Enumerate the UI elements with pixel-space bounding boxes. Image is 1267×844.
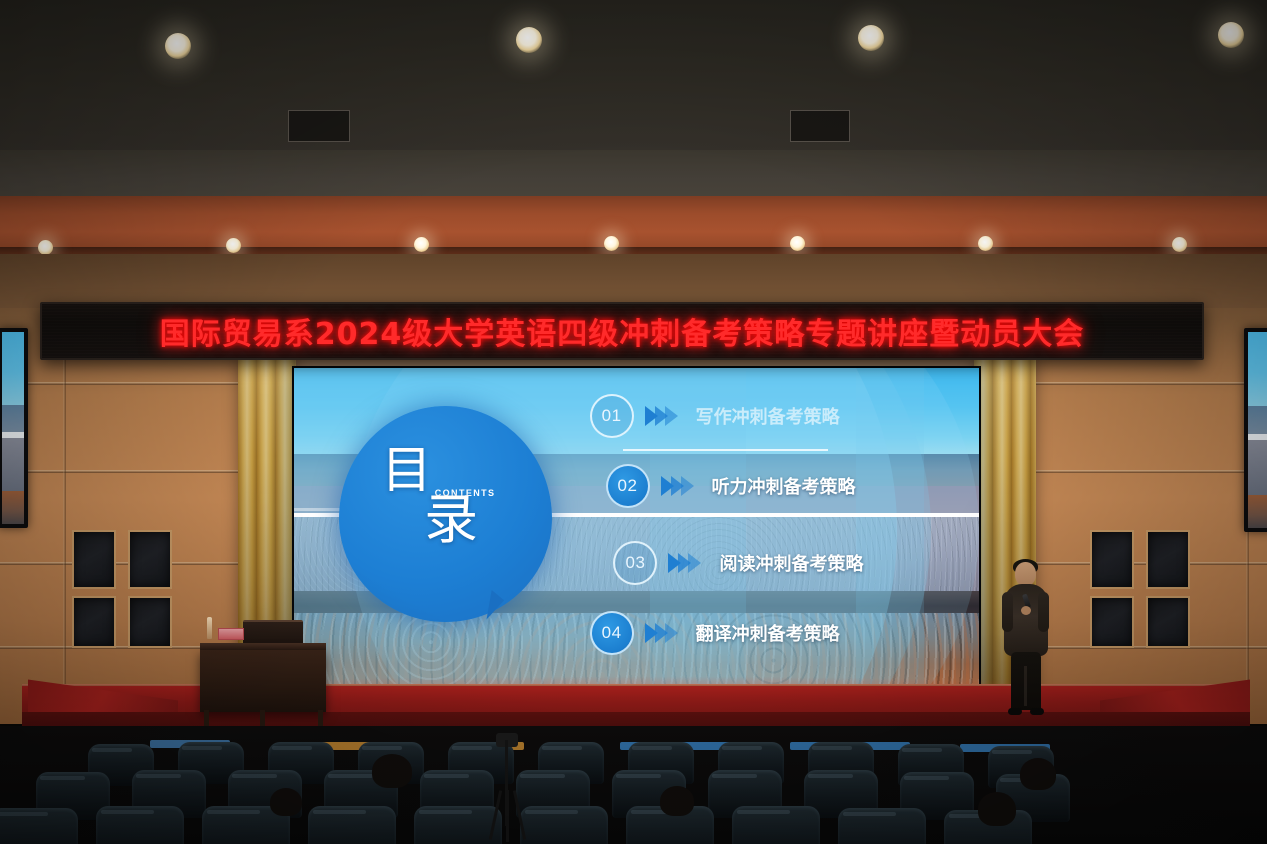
chevron-right-icon bbox=[688, 553, 701, 573]
chevron-right-icon bbox=[665, 623, 678, 643]
ceiling-beam bbox=[0, 196, 1267, 254]
beam-downlight bbox=[226, 238, 241, 253]
main-led-screen[interactable]: 目 CONTENTS 录 01 写作冲刺备考策略 02 bbox=[292, 366, 981, 688]
presenter-hand bbox=[1021, 606, 1031, 615]
side-display-sky bbox=[1248, 332, 1267, 406]
agenda-item-03[interactable]: 03 阅读冲刺备考策略 bbox=[613, 540, 863, 586]
wall-window bbox=[1146, 530, 1190, 589]
beam-downlight bbox=[1172, 237, 1187, 252]
wall-panel-upper bbox=[0, 254, 1267, 308]
audience-member bbox=[1020, 758, 1056, 790]
lecture-hall-photo: 目 CONTENTS 录 01 写作冲刺备考策略 02 bbox=[0, 0, 1267, 844]
agenda-number-badge: 01 bbox=[590, 394, 634, 438]
wall-window bbox=[128, 596, 172, 648]
side-display-sky bbox=[2, 332, 24, 405]
side-display-rock bbox=[1248, 495, 1267, 528]
side-display-sand bbox=[1248, 440, 1267, 495]
agenda-item-02[interactable]: 02 听力冲刺备考策略 bbox=[606, 463, 856, 509]
ceiling-vent-right bbox=[790, 110, 850, 142]
agenda-item-04[interactable]: 04 翻译冲刺备考策略 bbox=[590, 610, 840, 656]
beam-downlight bbox=[38, 240, 53, 255]
presenter-leg-gap bbox=[1024, 666, 1027, 706]
agenda-item-label: 听力冲刺备考策略 bbox=[712, 473, 856, 499]
audience-member bbox=[978, 792, 1016, 826]
audience-seating bbox=[0, 726, 1267, 844]
beam-downlight bbox=[604, 236, 619, 251]
agenda-number-badge: 04 bbox=[590, 611, 634, 655]
presider-table bbox=[200, 650, 326, 712]
audience-seat bbox=[308, 806, 396, 844]
beam-downlight bbox=[414, 237, 429, 252]
presentation-slide: 目 CONTENTS 录 01 写作冲刺备考策略 02 bbox=[294, 368, 979, 686]
audience-seat bbox=[838, 808, 926, 844]
chevron-arrows-icon bbox=[671, 553, 701, 573]
led-banner-text: 国际贸易系2024级大学英语四级冲刺备考策略专题讲座暨动员大会 bbox=[160, 309, 1085, 353]
contents-title-char-2: 录 bbox=[424, 493, 478, 547]
presenter bbox=[1002, 562, 1050, 722]
presenter-arm-right bbox=[1038, 592, 1049, 632]
led-banner: 国际贸易系2024级大学英语四级冲刺备考策略专题讲座暨动员大会 bbox=[40, 302, 1204, 360]
beam-downlight bbox=[790, 236, 805, 251]
presenter-shoe-left bbox=[1008, 708, 1022, 715]
audience-seat bbox=[96, 806, 184, 844]
name-card bbox=[218, 628, 244, 640]
wall-window bbox=[72, 530, 116, 589]
agenda-item-label: 翻译冲刺备考策略 bbox=[696, 620, 840, 646]
side-display-rock bbox=[2, 491, 24, 524]
ceiling-spotlight bbox=[858, 25, 884, 51]
audience-member bbox=[660, 786, 694, 816]
contents-bubble-text: 目 CONTENTS 录 bbox=[339, 406, 551, 622]
tripod-leg bbox=[506, 790, 509, 842]
water-bottle bbox=[207, 617, 212, 639]
ceiling-vent-left bbox=[288, 110, 350, 142]
beam-downlight bbox=[978, 236, 993, 251]
audience-seat bbox=[0, 808, 78, 844]
audience-seat bbox=[520, 806, 608, 844]
ceiling-spotlight bbox=[516, 27, 542, 53]
side-display-sand bbox=[2, 438, 24, 492]
wall-window bbox=[1146, 596, 1190, 648]
right-side-display bbox=[1244, 328, 1267, 532]
left-side-display bbox=[0, 328, 28, 528]
chevron-arrows-icon bbox=[648, 406, 678, 426]
chevron-right-icon bbox=[665, 406, 678, 426]
chevron-right-icon bbox=[681, 476, 694, 496]
wall-window bbox=[1090, 596, 1134, 648]
audience-seat bbox=[732, 806, 820, 844]
side-display-sea bbox=[1248, 406, 1267, 433]
audience-member bbox=[270, 788, 302, 816]
agenda-item-01[interactable]: 01 写作冲刺备考策略 bbox=[590, 393, 840, 439]
side-display-sea bbox=[2, 405, 24, 432]
agenda-item-label: 写作冲刺备考策略 bbox=[696, 403, 840, 429]
chevron-arrows-icon bbox=[664, 476, 694, 496]
agenda-item-label: 阅读冲刺备考策略 bbox=[719, 550, 863, 576]
ceiling-spotlight bbox=[1218, 22, 1244, 48]
agenda-list: 01 写作冲刺备考策略 02 听力冲刺备考策略 bbox=[582, 368, 979, 686]
presenter-head bbox=[1015, 562, 1036, 586]
wall-window bbox=[1090, 530, 1134, 589]
ceiling-spotlight bbox=[165, 33, 191, 59]
ceiling-soffit bbox=[0, 150, 1267, 198]
presenter-shoe-right bbox=[1030, 708, 1044, 715]
chevron-arrows-icon bbox=[648, 623, 678, 643]
wall-window bbox=[72, 596, 116, 648]
presenter-arm-left bbox=[1002, 592, 1013, 632]
agenda-number-badge: 02 bbox=[606, 464, 650, 508]
wall-seam bbox=[63, 356, 66, 686]
wall-window bbox=[128, 530, 172, 589]
audience-member bbox=[372, 754, 412, 788]
agenda-number-badge: 03 bbox=[613, 541, 657, 585]
